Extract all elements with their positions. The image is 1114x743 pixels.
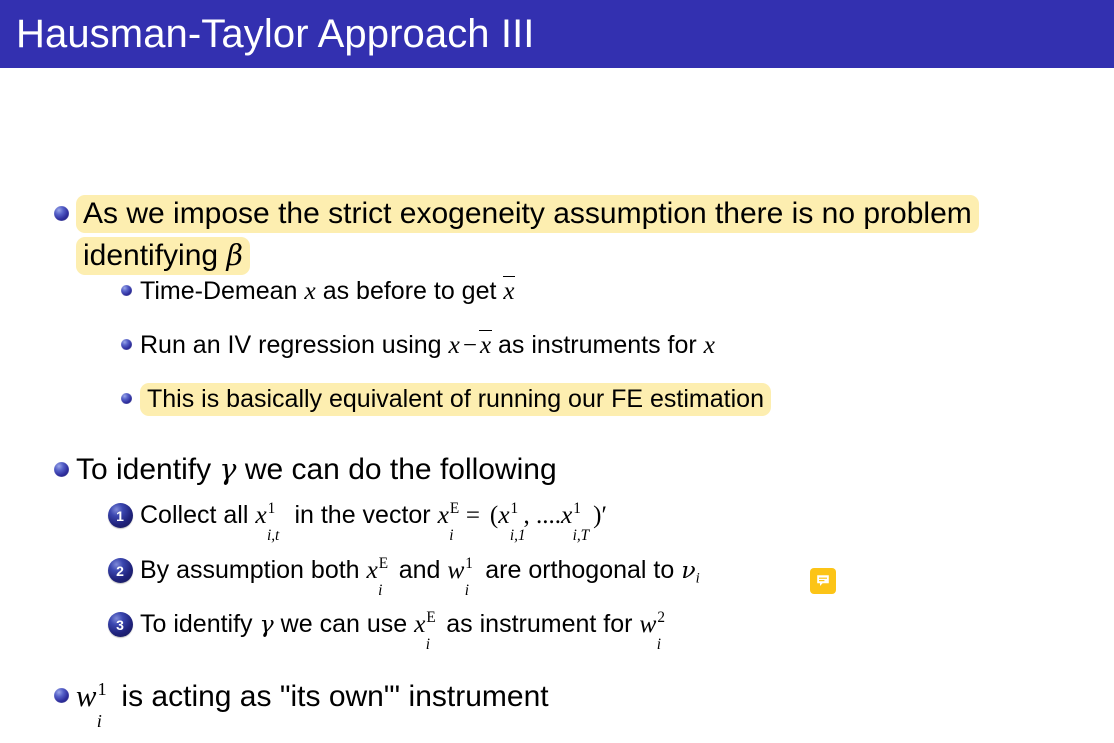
- math-var-x: x: [449, 330, 460, 359]
- num-3-part-2: we can use: [281, 610, 407, 638]
- numbered-item-3-text: To identify γ we can use xEi as instrume…: [140, 607, 656, 641]
- numbered-item-1: 1 Collect all x1i,t in the vector xEi = …: [100, 498, 1060, 533]
- gamma-symbol: γ: [260, 610, 274, 638]
- bullet-item-1-text: As we impose the strict exogeneity assum…: [76, 193, 1076, 277]
- numbered-item-1-text: Collect all x1i,t in the vector xEi = (x…: [140, 498, 607, 533]
- sphere-bullet-icon: [54, 462, 69, 477]
- math-var-x1it: x1i,t: [255, 500, 266, 529]
- sub-bullet-item-2-text: Run an IV regression using x−x as instru…: [140, 328, 715, 363]
- math-var-xEi: xEi: [367, 555, 378, 584]
- num-2-part-1: By assumption both: [140, 556, 360, 584]
- math-nu-i: νi: [681, 556, 700, 584]
- numbered-item-2-text: By assumption both xEi and w1i are ortho…: [140, 553, 700, 587]
- numbered-item-3: 3 To identify γ we can use xEi as instru…: [100, 607, 1060, 641]
- sphere-bullet-icon: [54, 688, 69, 703]
- sphere-bullet-icon: [121, 339, 132, 350]
- num-2-part-3: are orthogonal to: [485, 556, 674, 584]
- bullet-marker: [112, 328, 140, 350]
- sphere-bullet-icon: [121, 285, 132, 296]
- sub-bullet-item-1-text: Time-Demean x as before to get x: [140, 274, 514, 309]
- slide-content: As we impose the strict exogeneity assum…: [0, 68, 1114, 743]
- bullet-item-3: w1i is acting as "its own"' instrument: [46, 675, 1046, 718]
- num-1-part-2: in the vector: [294, 501, 430, 529]
- math-prime: ′: [601, 502, 606, 529]
- sub-bullet-item-3-text: This is basically equivalent of running …: [140, 382, 771, 416]
- bullet-marker: [46, 675, 76, 703]
- math-var-x-bar: x: [503, 274, 514, 309]
- math-var-x-bar: x: [480, 328, 491, 363]
- number-badge-2: 2: [108, 558, 133, 583]
- gamma-symbol: γ: [219, 453, 236, 486]
- bullet-marker: [46, 193, 76, 221]
- bullet-marker: [112, 274, 140, 296]
- numbered-marker: 1: [100, 498, 140, 528]
- sphere-bullet-icon: [54, 206, 69, 221]
- sub-bullet-item-3: This is basically equivalent of running …: [112, 382, 1012, 416]
- number-badge-3: 3: [108, 612, 133, 637]
- bullet-1-line-1: As we impose the strict exogeneity assum…: [83, 197, 972, 230]
- sub-3-text: This is basically equivalent of running …: [147, 385, 764, 413]
- bullet-1-line-2: identifying: [83, 239, 218, 272]
- sub-1-part-1: Time-Demean: [140, 277, 297, 305]
- slide-title-bar: Hausman-Taylor Approach III: [0, 0, 1114, 68]
- math-var-w1i: w1i: [76, 679, 96, 713]
- bullet-item-2-text: To identify γ we can do the following: [76, 449, 557, 491]
- sphere-bullet-icon: [121, 393, 132, 404]
- number-badge-1: 1: [108, 503, 133, 528]
- math-open-paren: (: [490, 502, 498, 529]
- sub-2-part-1: Run an IV regression using: [140, 331, 442, 359]
- math-var-w2i: w2i: [639, 609, 656, 638]
- bullet-item-1: As we impose the strict exogeneity assum…: [46, 193, 1086, 277]
- bullet-marker: [46, 449, 76, 477]
- num-2-part-2: and: [399, 556, 441, 584]
- highlighted-text: As we impose the strict exogeneity assum…: [76, 195, 979, 233]
- math-var-x: x: [704, 330, 715, 359]
- math-var-w1i: w1i: [447, 555, 464, 584]
- math-equals: =: [463, 502, 483, 529]
- math-var-x1i1: x1i,1: [498, 500, 509, 529]
- num-3-part-3: as instrument for: [446, 610, 632, 638]
- sub-bullet-item-2: Run an IV regression using x−x as instru…: [112, 328, 1012, 363]
- math-var-xEi: xEi: [438, 500, 449, 529]
- bullet-marker: [112, 382, 140, 404]
- bullet-2-part-1: To identify: [76, 453, 211, 486]
- bullet-item-2: To identify γ we can do the following: [46, 449, 1046, 491]
- num-1-part-1: Collect all: [140, 501, 248, 529]
- sub-bullet-item-1: Time-Demean x as before to get x: [112, 274, 1012, 309]
- numbered-item-2: 2 By assumption both xEi and w1i are ort…: [100, 553, 1060, 587]
- highlighted-text: This is basically equivalent of running …: [140, 383, 771, 416]
- math-minus-operator: −: [460, 332, 480, 359]
- highlighted-text: identifying β: [76, 237, 250, 275]
- math-comma-dots: , ....: [523, 502, 561, 529]
- math-var-x: x: [304, 276, 315, 305]
- page-title: Hausman-Taylor Approach III: [0, 14, 535, 54]
- sub-2-part-2: as instruments for: [498, 331, 697, 359]
- num-3-part-1: To identify: [140, 610, 253, 638]
- bullet-2-part-2: we can do the following: [245, 453, 557, 486]
- numbered-marker: 3: [100, 607, 140, 637]
- numbered-marker: 2: [100, 553, 140, 583]
- beta-symbol: β: [226, 239, 242, 272]
- math-subscript: i: [696, 571, 700, 587]
- bullet-3-label: is acting as "its own"' instrument: [121, 680, 548, 713]
- bullet-item-3-text: w1i is acting as "its own"' instrument: [76, 675, 549, 718]
- math-var-xEi: xEi: [414, 609, 425, 638]
- sub-1-part-2: as before to get: [323, 277, 497, 305]
- math-var-x1iT: x1i,T: [561, 500, 572, 529]
